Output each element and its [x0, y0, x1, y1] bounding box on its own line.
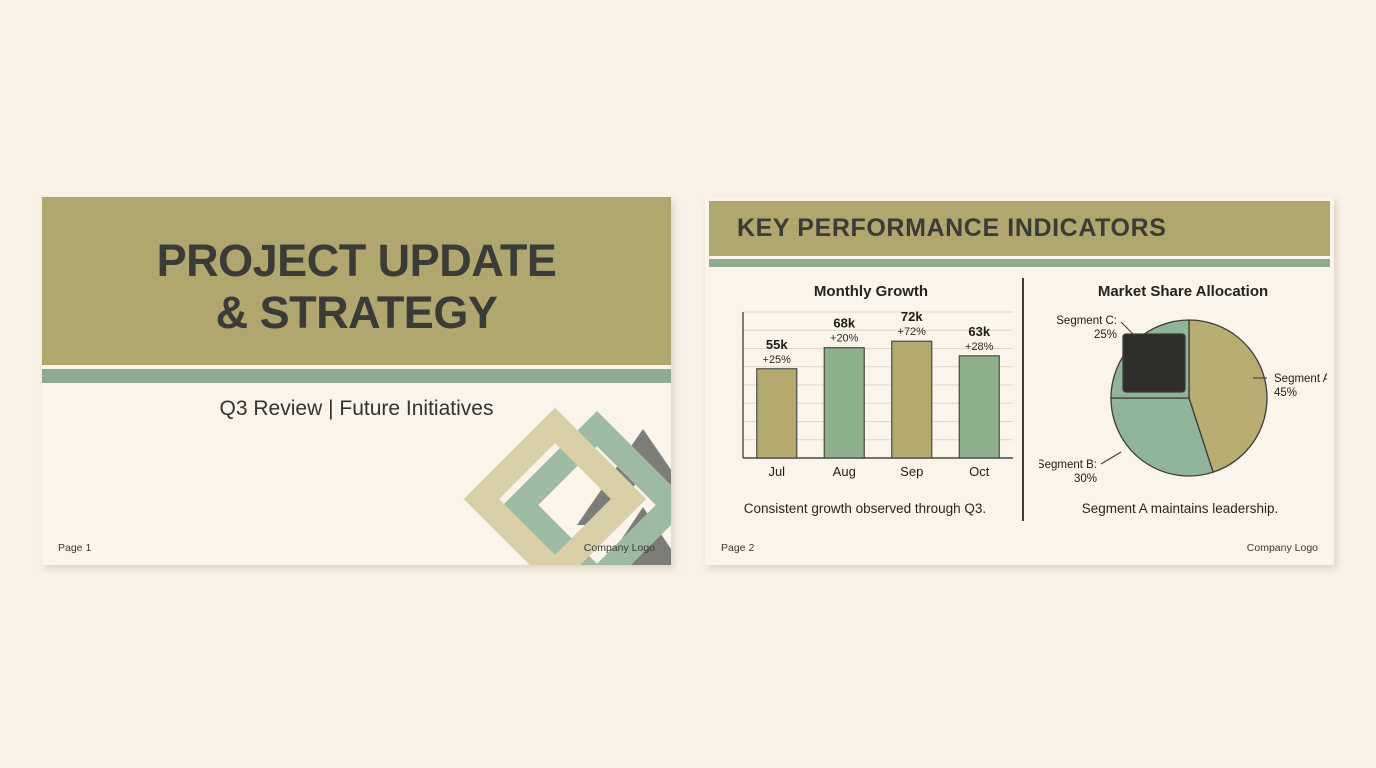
- monthly-growth-title: Monthly Growth: [721, 283, 1021, 300]
- svg-text:Aug: Aug: [833, 464, 856, 479]
- svg-text:45%: 45%: [1274, 387, 1297, 399]
- presentation-canvas: PROJECT UPDATE & STRATEGY Q3 Review | Fu…: [0, 0, 1376, 768]
- slide2-header-title: KEY PERFORMANCE INDICATORS: [737, 214, 1167, 243]
- svg-text:68k: 68k: [833, 316, 855, 331]
- monthly-growth-panel: Monthly Growth 55k+25%Jul68k+20%Aug72k+7…: [721, 275, 1021, 535]
- monthly-growth-caption: Consistent growth observed through Q3.: [705, 501, 1025, 516]
- slide1-footer-logo: Company Logo: [584, 542, 655, 554]
- market-share-caption: Segment A maintains leadership.: [1030, 501, 1330, 516]
- svg-text:25%: 25%: [1094, 329, 1117, 341]
- slide1-footer-page: Page 1: [58, 542, 91, 554]
- svg-text:Segment A:: Segment A:: [1274, 373, 1327, 385]
- svg-text:Segment B:: Segment B:: [1039, 459, 1097, 471]
- svg-text:Jul: Jul: [768, 464, 785, 479]
- svg-text:+72%: +72%: [898, 326, 927, 338]
- slide1-title-line-2: & STRATEGY: [42, 287, 671, 339]
- slide1-title-line-1: PROJECT UPDATE: [42, 235, 671, 287]
- svg-text:Oct: Oct: [969, 464, 990, 479]
- slide2-header-band: KEY PERFORMANCE INDICATORS: [709, 201, 1330, 256]
- svg-text:30%: 30%: [1074, 473, 1097, 485]
- panel-divider: [1022, 278, 1024, 521]
- market-share-title: Market Share Allocation: [1039, 283, 1327, 300]
- bar-chart[interactable]: 55k+25%Jul68k+20%Aug72k+72%Sep63k+28%Oct: [721, 300, 1021, 510]
- svg-text:72k: 72k: [901, 309, 923, 324]
- slide1-subtitle: Q3 Review | Future Initiatives: [42, 397, 671, 421]
- svg-text:+25%: +25%: [763, 354, 792, 366]
- svg-text:63k: 63k: [968, 324, 990, 339]
- svg-text:Segment C:: Segment C:: [1056, 315, 1117, 327]
- slide-1[interactable]: PROJECT UPDATE & STRATEGY Q3 Review | Fu…: [42, 197, 671, 565]
- slide1-accent-band: [42, 369, 671, 383]
- svg-text:+20%: +20%: [830, 333, 859, 345]
- market-share-panel: Market Share Allocation Segment A:45%Seg…: [1039, 275, 1327, 535]
- pie-chart[interactable]: Segment A:45%Segment B:30%Segment C:25%: [1039, 300, 1327, 515]
- svg-text:Sep: Sep: [900, 464, 923, 479]
- slide2-footer-logo: Company Logo: [1247, 542, 1318, 554]
- svg-text:55k: 55k: [766, 337, 788, 352]
- svg-text:+28%: +28%: [965, 341, 994, 353]
- slide1-title: PROJECT UPDATE & STRATEGY: [42, 235, 671, 339]
- slide2-accent-band: [709, 259, 1330, 267]
- slide2-footer-page: Page 2: [721, 542, 754, 554]
